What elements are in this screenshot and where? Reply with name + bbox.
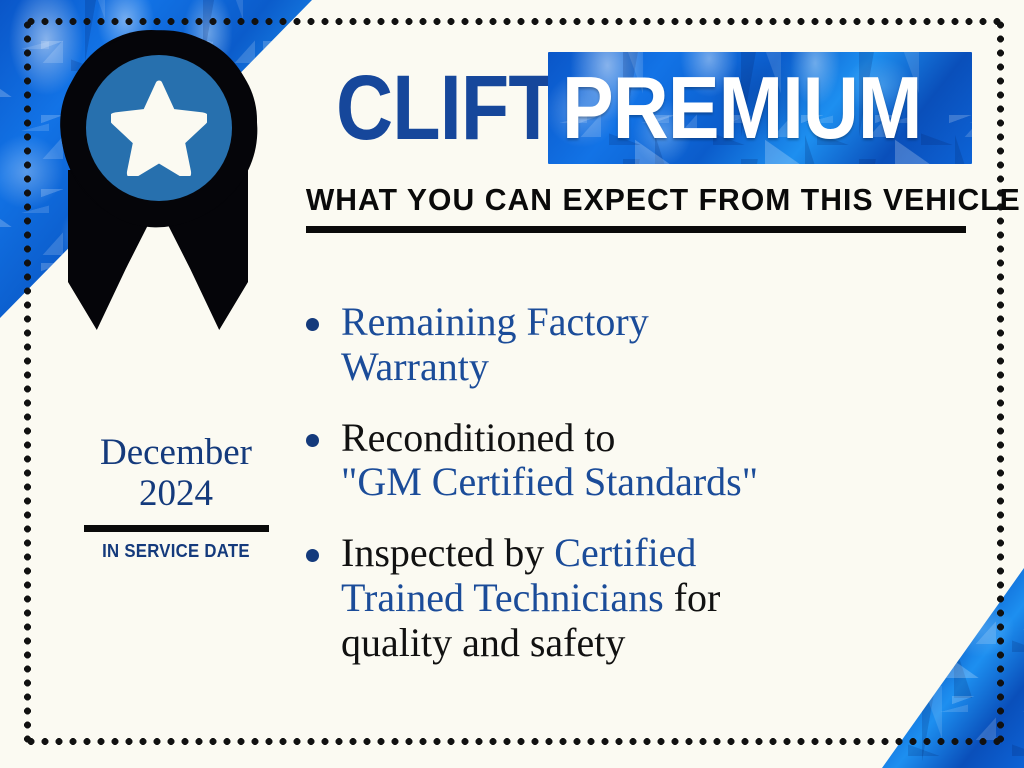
list-item: Remaining Factory Warranty bbox=[306, 300, 946, 390]
dotted-border-bottom bbox=[24, 738, 1004, 745]
benefit-text: Reconditioned to "GM Certified Standards… bbox=[341, 416, 758, 506]
page-title: WHAT YOU CAN EXPECT FROM THIS VEHICLE bbox=[300, 182, 952, 218]
star-icon bbox=[111, 80, 207, 176]
benefit-line-highlight: "GM Certified Standards" bbox=[341, 459, 758, 504]
dotted-border-right bbox=[997, 18, 1004, 745]
in-service-date-label: IN SERVICE DATE bbox=[83, 541, 269, 562]
logo-premium-badge: PREMIUM bbox=[548, 52, 972, 164]
benefit-line: Remaining Factory bbox=[341, 299, 649, 344]
benefit-fragment: Inspected by bbox=[341, 530, 554, 575]
bullet-icon bbox=[306, 318, 319, 331]
list-item: Inspected by Certified Trained Technicia… bbox=[306, 531, 946, 665]
bullet-icon bbox=[306, 549, 319, 562]
list-item: Reconditioned to "GM Certified Standards… bbox=[306, 416, 946, 506]
benefit-fragment: quality and safety bbox=[341, 620, 625, 665]
logo-premium-text: PREMIUM bbox=[562, 68, 922, 147]
dotted-border-left bbox=[24, 18, 31, 745]
in-service-date-value: December 2024 bbox=[76, 432, 276, 515]
benefit-text: Inspected by Certified Trained Technicia… bbox=[341, 531, 720, 665]
benefit-fragment: for bbox=[664, 575, 721, 620]
in-service-date-block: December 2024 IN SERVICE DATE bbox=[76, 432, 276, 562]
benefit-line: Reconditioned to bbox=[341, 415, 615, 460]
award-ribbon-badge bbox=[38, 20, 278, 330]
in-service-year: 2024 bbox=[76, 473, 276, 514]
title-divider bbox=[306, 226, 966, 233]
benefit-text: Remaining Factory Warranty bbox=[341, 300, 649, 390]
benefits-list: Remaining Factory Warranty Reconditioned… bbox=[306, 300, 946, 692]
in-service-divider bbox=[84, 525, 269, 532]
brand-logo: CLIFT PREMIUM bbox=[300, 48, 972, 168]
header: CLIFT PREMIUM WHAT YOU CAN EXPECT FROM T… bbox=[300, 48, 972, 233]
benefit-line: Warranty bbox=[341, 344, 489, 389]
benefit-fragment-highlight: Certified bbox=[554, 530, 696, 575]
vehicle-premium-certificate: CLIFT PREMIUM WHAT YOU CAN EXPECT FROM T… bbox=[0, 0, 1024, 768]
bullet-icon bbox=[306, 434, 319, 447]
logo-clift-text: CLIFT bbox=[336, 67, 556, 150]
in-service-month: December bbox=[76, 432, 276, 473]
benefit-fragment-highlight: Trained Technicians bbox=[341, 575, 664, 620]
